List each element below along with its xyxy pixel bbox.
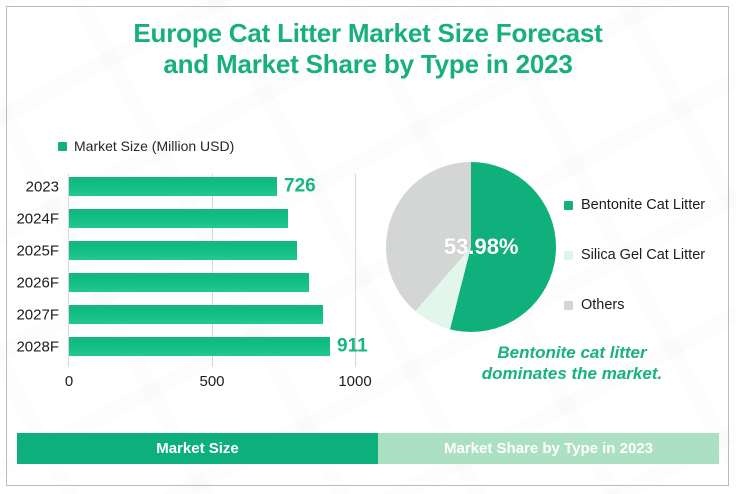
bar-value-label: 726 [284,175,316,197]
legend-label: Silica Gel Cat Litter [581,247,705,263]
square-marker-icon [564,201,573,210]
bar-chart-legend-label: Market Size (Million USD) [74,138,234,154]
legend-label: Others [581,297,625,313]
x-axis-tick: 500 [199,373,224,390]
bar-fill [69,273,309,292]
bar-category-label: 2024F [16,210,59,227]
bar-chart-legend: Market Size (Million USD) [58,138,234,154]
pie-chart-annotation: Bentonite cat litter dominates the marke… [422,342,722,384]
pie-chart[interactable]: 53.98% [386,162,556,332]
bar-category-label: 2023 [26,178,59,195]
bar-row[interactable]: 2028F 911 [69,337,330,356]
bar-fill [69,241,297,260]
bar-chart-plot-area: 2023 726 2024F 2025F 2026F 202 [69,174,356,367]
tab-market-share-by-type[interactable]: Market Share by Type in 2023 [378,433,719,464]
bar-fill [69,177,277,196]
legend-item-bentonite[interactable]: Bentonite Cat Litter [564,180,732,230]
x-axis-tick: 0 [65,373,73,390]
tab-label: Market Size [156,440,239,457]
bar-row[interactable]: 2026F [69,273,309,292]
x-axis-tick: 1000 [338,373,371,390]
bar-row[interactable]: 2027F [69,305,323,324]
bar-category-label: 2028F [16,338,59,355]
bar-category-label: 2027F [16,306,59,323]
bar-chart-panel: Market Size (Million USD) 2023 726 2024F [0,128,376,396]
bar-fill [69,305,323,324]
bar-row[interactable]: 2023 726 [69,177,277,196]
bar-fill [69,209,288,228]
bar-fill [69,337,330,356]
legend-label: Bentonite Cat Litter [581,197,705,213]
tab-market-size[interactable]: Market Size [17,433,378,464]
pie-chart-panel: 53.98% Bentonite Cat Litter Silica Gel C… [378,150,736,400]
square-marker-icon [564,301,573,310]
bottom-tab-bar: Market Size Market Share by Type in 2023 [17,433,719,464]
square-marker-icon [58,142,67,151]
tab-label: Market Share by Type in 2023 [444,440,653,457]
page-title: Europe Cat Litter Market Size Forecast a… [0,18,736,80]
pie-data-label: 53.98% [444,234,519,260]
legend-item-others[interactable]: Others [564,280,732,330]
pie-chart-legend: Bentonite Cat Litter Silica Gel Cat Litt… [564,180,732,330]
bar-category-label: 2026F [16,274,59,291]
bar-value-label: 911 [337,335,368,357]
bar-row[interactable]: 2025F [69,241,297,260]
infographic-canvas: Europe Cat Litter Market Size Forecast a… [0,0,736,494]
annotation-line-2: dominates the market. [422,363,722,384]
bar-category-label: 2025F [16,242,59,259]
title-line-2: and Market Share by Type in 2023 [0,49,736,80]
title-line-1: Europe Cat Litter Market Size Forecast [0,18,736,49]
bar-row[interactable]: 2024F [69,209,288,228]
annotation-line-1: Bentonite cat litter [422,342,722,363]
square-marker-icon [564,251,573,260]
legend-item-silica-gel[interactable]: Silica Gel Cat Litter [564,230,732,280]
